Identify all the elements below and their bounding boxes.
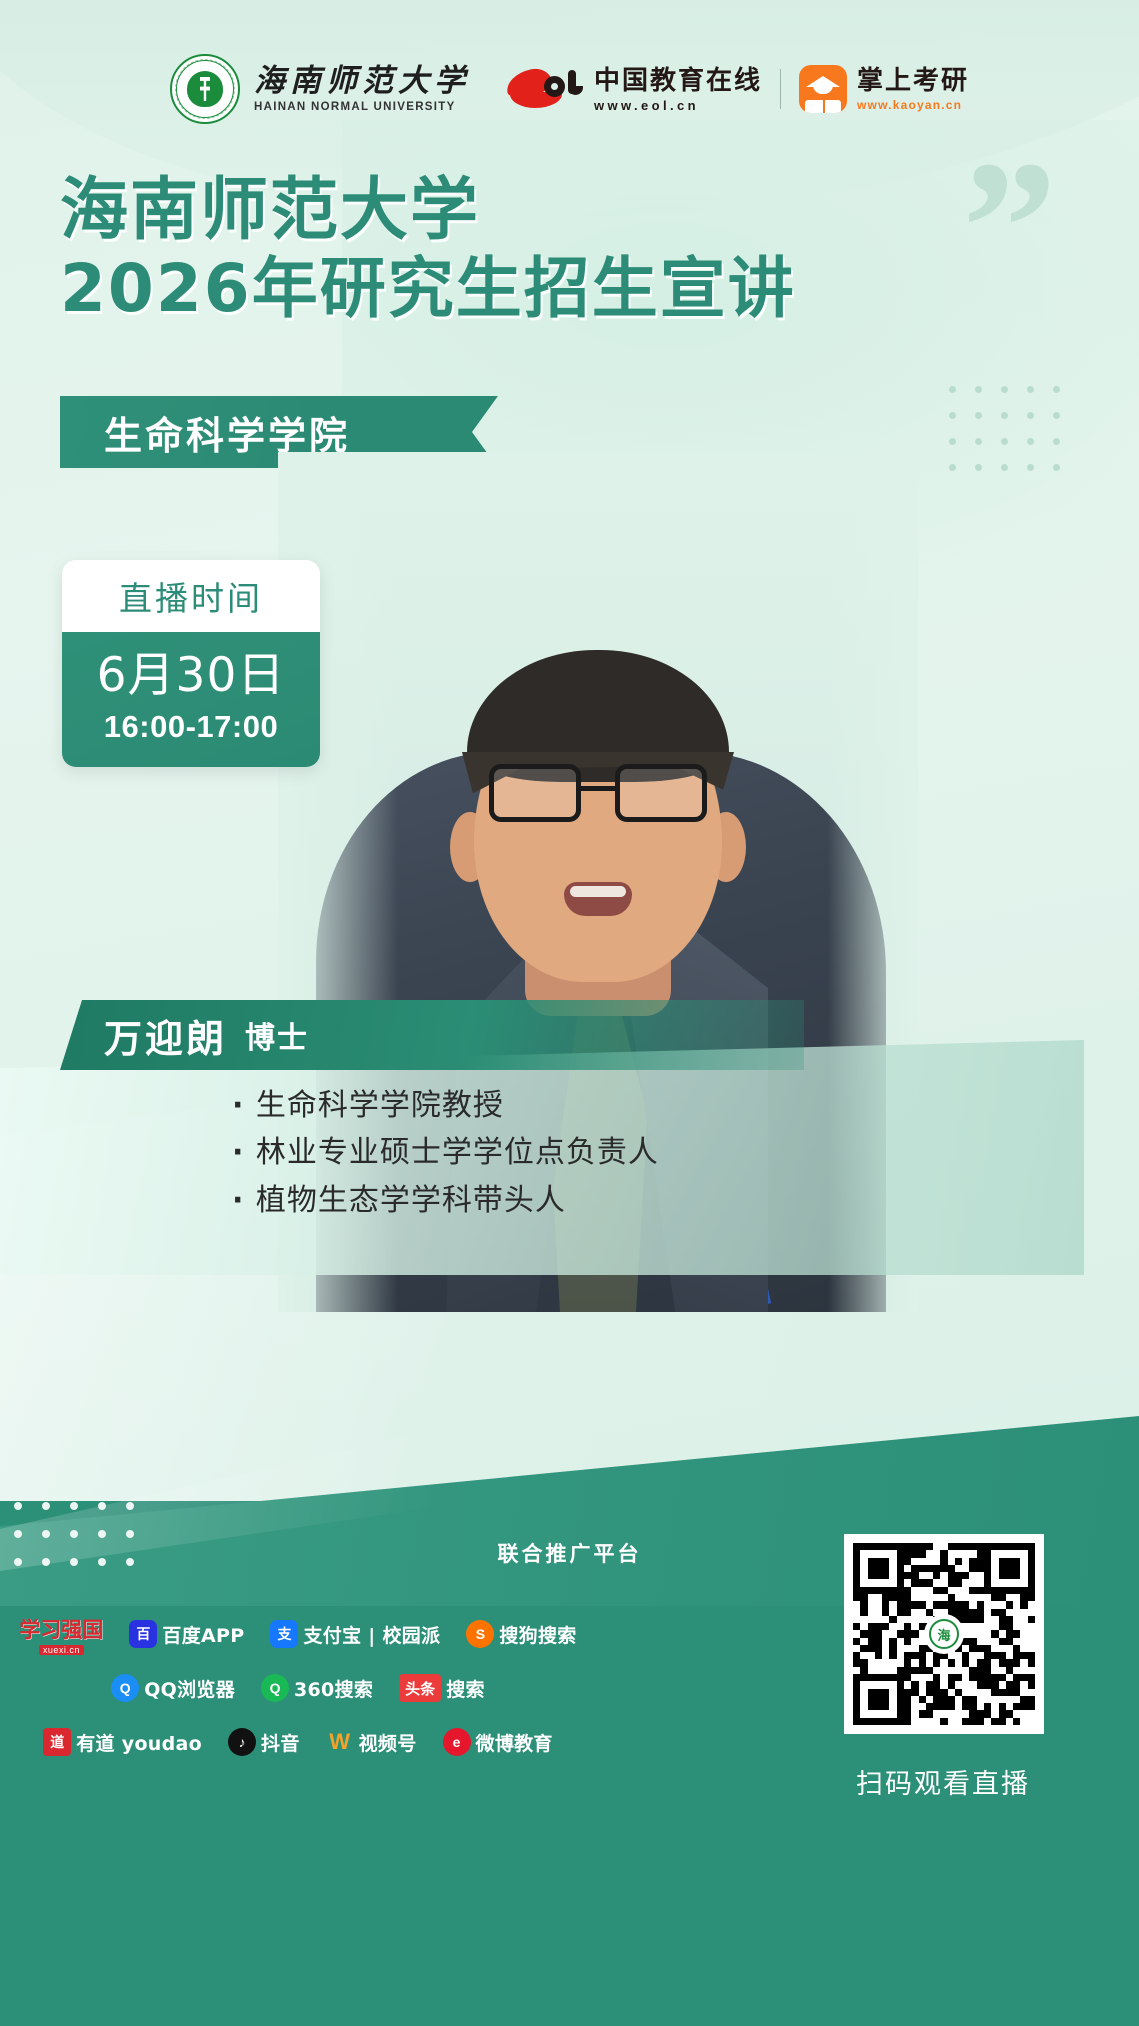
partner-douyin[interactable]: ♪ 抖音 xyxy=(228,1728,300,1756)
partner-360-search[interactable]: Q 360搜索 xyxy=(261,1674,373,1702)
toutiao-icon: 头条 xyxy=(399,1674,441,1702)
partner-shipinhao[interactable]: W 视频号 xyxy=(326,1728,417,1756)
live-date: 6月30日 xyxy=(62,648,320,703)
qr-center-logo-icon: 海 xyxy=(924,1614,964,1654)
weibo-icon: e xyxy=(443,1728,471,1756)
speaker-name: 万迎朗 xyxy=(104,1008,227,1063)
partner-logo-grid: 学习强国 xuexi.cn 百 百度APP 支 支付宝 | 校园派 S 搜狗搜索… xyxy=(18,1614,578,1776)
title-line-2: 2026年研究生招生宣讲 xyxy=(60,251,796,328)
eol-url: www.eol.cn xyxy=(594,99,762,112)
qr-caption: 扫码观看直播 xyxy=(835,1762,1051,1801)
kaoyan-name-cn: 掌上考研 xyxy=(857,67,969,93)
eyeglasses-icon xyxy=(489,764,707,826)
speaker-degree: 博士 xyxy=(245,1013,309,1057)
university-logo: 海南师范大学 HAINAN NORMAL UNIVERSITY xyxy=(170,54,470,124)
eol-logo-icon xyxy=(506,66,584,112)
partner-label: 搜狗搜索 xyxy=(499,1621,576,1648)
partner-alipay-xiaoyuanpai[interactable]: 支 支付宝 | 校园派 xyxy=(270,1620,440,1648)
sogou-icon: S xyxy=(466,1620,494,1648)
partner-baidu-app[interactable]: 百 百度APP xyxy=(129,1620,244,1648)
logo-divider xyxy=(780,69,781,109)
speaker-name-bar: 万迎朗 博士 xyxy=(60,1000,804,1070)
douyin-icon: ♪ xyxy=(228,1728,256,1756)
partner-label: 微博教育 xyxy=(476,1729,553,1756)
promo-title: 联合推广平台 xyxy=(498,1542,642,1566)
quote-mark-decoration: ” xyxy=(962,160,1051,297)
partner-label: 百度APP xyxy=(162,1621,244,1648)
partner-xuexi-qiangguo[interactable]: 学习强国 xuexi.cn xyxy=(19,1614,103,1655)
youdao-icon: 道 xyxy=(43,1728,71,1756)
partner-youdao[interactable]: 道 有道 youdao xyxy=(43,1728,202,1756)
partner-row-3: 道 有道 youdao ♪ 抖音 W 视频号 e 微博教育 xyxy=(18,1722,578,1762)
page-title: 海南师范大学 2026年研究生招生宣讲 xyxy=(60,172,796,327)
graduation-cap-icon xyxy=(799,65,847,113)
university-name-en: HAINAN NORMAL UNIVERSITY xyxy=(254,102,470,114)
qq-browser-icon: Q xyxy=(111,1674,139,1702)
baidu-icon: 百 xyxy=(129,1620,157,1648)
header-logo-bar: 海南师范大学 HAINAN NORMAL UNIVERSITY 中国教育在线 w… xyxy=(0,48,1139,130)
partner-sub: xuexi.cn xyxy=(39,1645,84,1655)
360-icon: Q xyxy=(261,1674,289,1702)
qr-code[interactable]: 海 xyxy=(844,1534,1044,1734)
partner-row-2: Q QQ浏览器 Q 360搜索 头条 搜索 xyxy=(18,1668,578,1708)
partner-label: 有道 youdao xyxy=(76,1729,202,1756)
list-item: 植物生态学学科带头人 xyxy=(232,1177,659,1224)
live-time-card: 直播时间 6月30日 16:00-17:00 xyxy=(62,560,320,767)
partner-sogou-search[interactable]: S 搜狗搜索 xyxy=(466,1620,576,1648)
partner-label: 搜索 xyxy=(446,1675,485,1702)
university-name-cn: 海南师范大学 xyxy=(254,65,470,96)
live-time-range: 16:00-17:00 xyxy=(62,709,320,745)
partner-toutiao-search[interactable]: 头条 搜索 xyxy=(399,1674,485,1702)
partner-label: 抖音 xyxy=(261,1729,300,1756)
partner-label: 视频号 xyxy=(359,1729,417,1756)
university-seal-icon xyxy=(170,54,240,124)
live-time-value-area: 6月30日 16:00-17:00 xyxy=(62,632,320,767)
live-time-label: 直播时间 xyxy=(119,572,263,620)
speaker-credentials-list: 生命科学学院教授 林业专业硕士学学位点负责人 植物生态学学科带头人 xyxy=(232,1082,659,1224)
kaoyan-logo: 掌上考研 www.kaoyan.cn xyxy=(799,65,969,113)
title-line-1: 海南师范大学 xyxy=(60,172,796,251)
list-item: 林业专业硕士学学位点负责人 xyxy=(232,1129,659,1176)
partner-label: 支付宝 | 校园派 xyxy=(303,1621,440,1648)
eol-name-cn: 中国教育在线 xyxy=(594,67,762,93)
partner-row-1: 学习强国 xuexi.cn 百 百度APP 支 支付宝 | 校园派 S 搜狗搜索 xyxy=(18,1614,578,1654)
partner-weibo-edu[interactable]: e 微博教育 xyxy=(443,1728,553,1756)
partner-label: QQ浏览器 xyxy=(144,1675,235,1702)
eol-logo: 中国教育在线 www.eol.cn xyxy=(506,66,762,112)
partner-label: 360搜索 xyxy=(294,1675,373,1702)
list-item: 生命科学学院教授 xyxy=(232,1082,659,1129)
dot-grid-decoration-right xyxy=(949,386,1079,490)
poster-canvas: 海南师范大学 HAINAN NORMAL UNIVERSITY 中国教育在线 w… xyxy=(0,0,1139,2026)
kaoyan-url: www.kaoyan.cn xyxy=(857,99,969,111)
live-time-label-area: 直播时间 xyxy=(62,560,320,632)
alipay-icon: 支 xyxy=(270,1620,298,1648)
partner-qq-browser[interactable]: Q QQ浏览器 xyxy=(111,1674,235,1702)
partner-label: 学习强国 xyxy=(19,1614,103,1644)
shipinhao-icon: W xyxy=(326,1728,354,1756)
